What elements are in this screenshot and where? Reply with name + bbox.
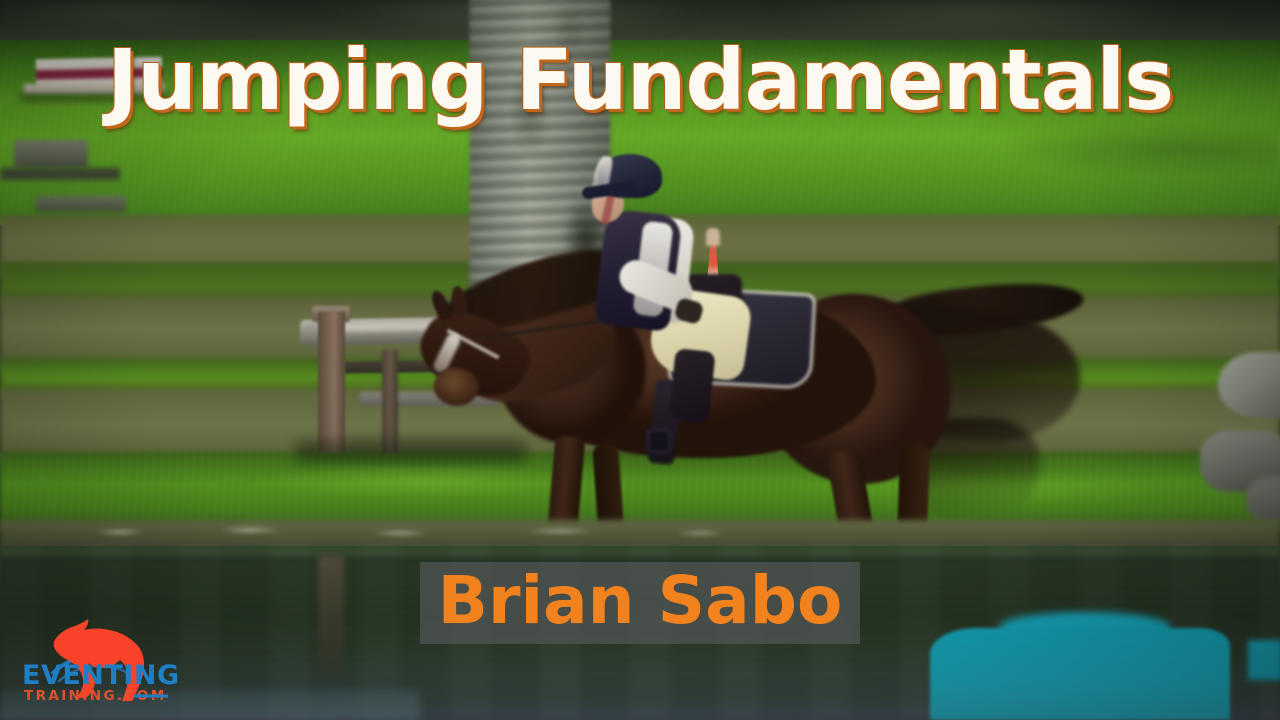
turquoise-water-edge — [1248, 640, 1280, 680]
jump-post-secondary — [382, 350, 398, 454]
pond-bank-highlights — [0, 524, 900, 542]
logo-brand-primary: EVENTING — [22, 660, 180, 691]
stirrup — [646, 428, 672, 454]
jumping-horse-logo-icon: EVENTING TRAINING.COM — [18, 612, 218, 708]
jump-post — [318, 312, 345, 452]
rider-boot — [668, 348, 715, 424]
page-title: Jumping Fundamentals — [0, 36, 1280, 124]
brand-logo[interactable]: EVENTING TRAINING.COM — [18, 612, 218, 708]
rider — [560, 150, 780, 410]
background-obstacle-a — [14, 140, 88, 168]
background-obstacle-c — [36, 196, 126, 212]
video-thumbnail: Jumping Fundamentals Brian Sabo EVENTING… — [0, 0, 1280, 720]
background-obstacle-b — [0, 168, 120, 180]
presenter-name: Brian Sabo — [420, 562, 861, 644]
rock-right-lower — [1246, 476, 1280, 522]
